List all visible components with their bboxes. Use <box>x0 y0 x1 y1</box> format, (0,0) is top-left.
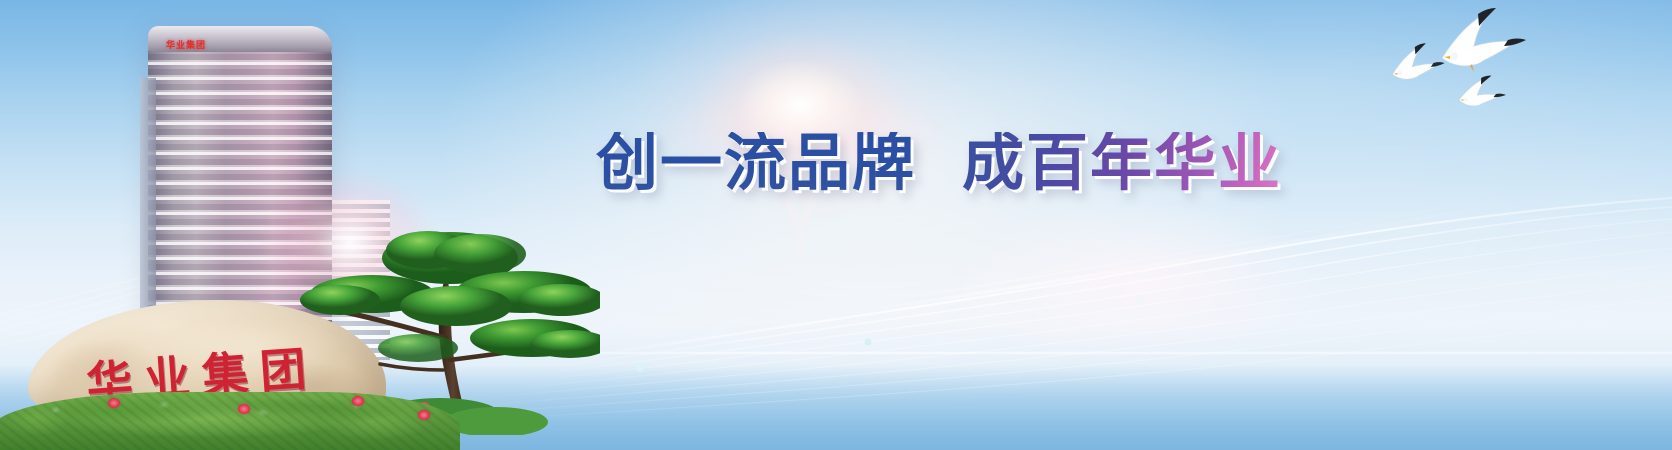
hedge-flower <box>418 410 430 420</box>
seagull-large <box>1442 8 1526 72</box>
foreground-hedge <box>0 392 460 450</box>
slogan-part-2: 成百年华业 <box>962 132 1282 194</box>
tower-roof-cap: 华业集团 <box>148 26 332 52</box>
hedge-texture <box>0 392 460 450</box>
hedge-flower <box>352 396 364 406</box>
slogan-headline: 创一流品牌成百年华业 <box>596 132 1282 194</box>
seagull-small-left <box>1392 43 1444 79</box>
building-sign-text: 华业集团 <box>166 38 206 51</box>
hedge-flower <box>238 404 250 414</box>
seagull-flock <box>1380 6 1560 116</box>
lower-glow <box>880 170 1400 400</box>
hedge-flower <box>108 398 120 408</box>
slogan-part-1: 创一流品牌 <box>596 132 916 194</box>
seagull-small-right <box>1458 73 1507 110</box>
hero-banner: 华业集团 华业集团 <box>0 0 1672 450</box>
